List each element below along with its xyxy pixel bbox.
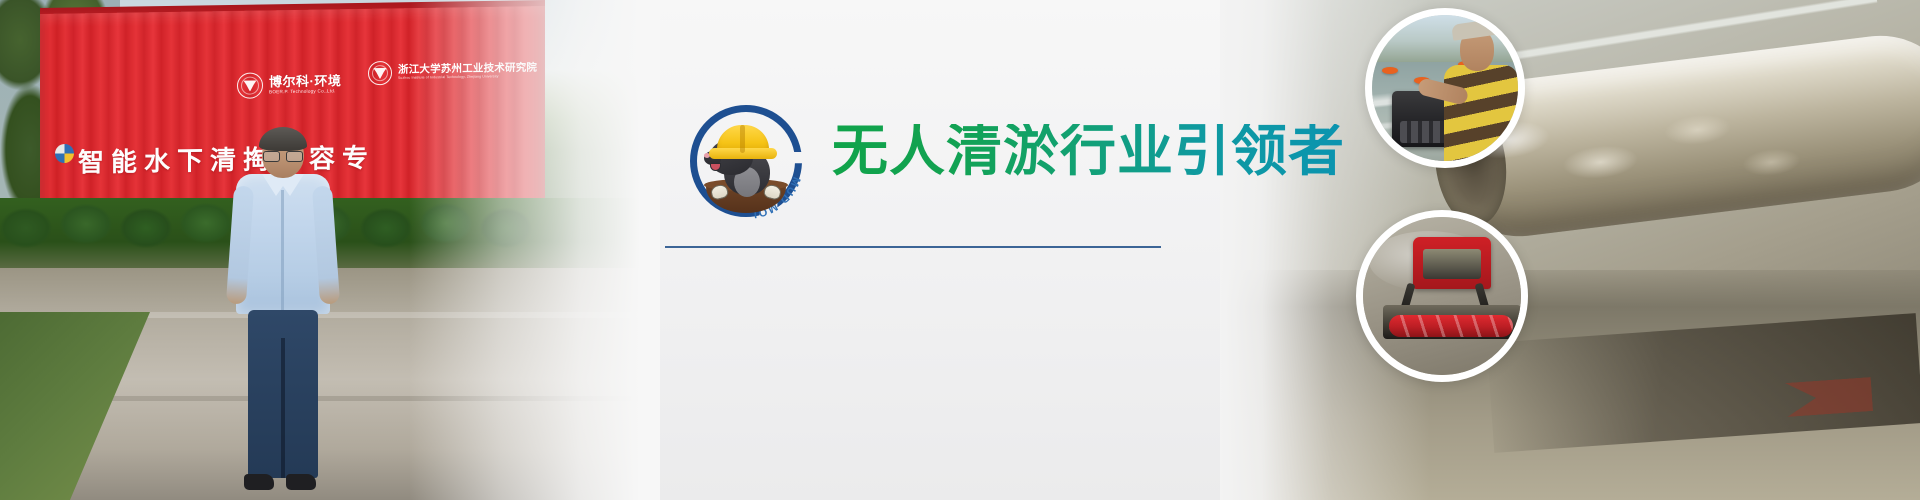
operator-person — [1436, 21, 1522, 168]
left-photo: 博尔科·环境 BOER.P. Technology Co.,Ltd. 浙江大学苏… — [0, 0, 660, 500]
circle-photo-operator — [1365, 8, 1525, 168]
mud-mole-logo: MUD MOLE — [690, 105, 802, 217]
basin-float-1 — [1382, 67, 1398, 74]
banner-center-block: MUD MOLE 无人清淤行业引领者 — [660, 0, 1220, 500]
banner-headline: 无人清淤行业引领者 — [832, 124, 1345, 180]
operator-striped-shirt — [1444, 65, 1518, 168]
promo-banner: 博尔科·环境 BOER.P. Technology Co.,Ltd. 浙江大学苏… — [0, 0, 1920, 500]
circle-photo-robot — [1356, 210, 1528, 382]
robot-chassis — [1413, 237, 1491, 289]
logo-hard-hat-ridge — [740, 125, 745, 153]
left-photo-fade-overlay — [0, 0, 660, 500]
right-photo-fade-overlay — [1220, 0, 1920, 500]
right-photo-group — [1220, 0, 1920, 500]
banner-divider — [665, 246, 1161, 248]
robot-auger-screw — [1389, 315, 1513, 337]
